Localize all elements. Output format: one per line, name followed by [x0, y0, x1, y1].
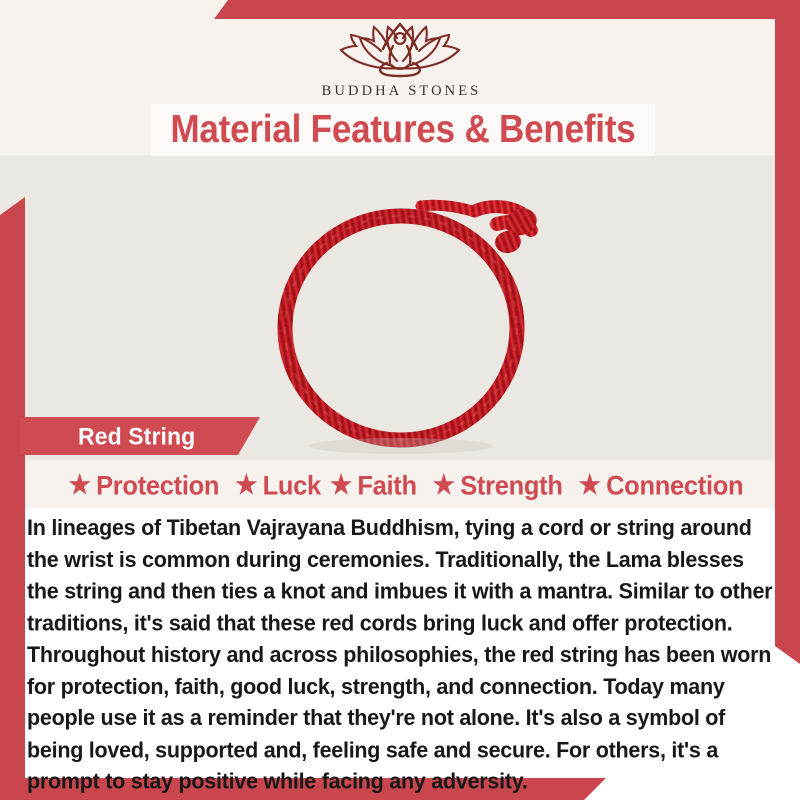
benefit-item-strength: ★ Strength: [433, 470, 563, 501]
brand-logo: BUDDHA STONES: [0, 18, 800, 100]
benefit-label: Luck: [263, 470, 321, 501]
product-label-ribbon: Red String: [20, 417, 260, 455]
benefit-label: Protection: [96, 470, 219, 501]
title-banner: Material Features & Benefits: [151, 104, 655, 156]
star-icon: ★: [69, 472, 91, 499]
product-image: [225, 160, 585, 460]
description-text: In lineages of Tibetan Vajrayana Buddhis…: [27, 512, 773, 797]
benefit-item-protection: ★ Protection: [69, 470, 220, 501]
brand-name: BUDDHA STONES: [319, 83, 482, 100]
star-icon: ★: [433, 472, 455, 499]
star-icon: ★: [579, 472, 601, 499]
benefit-item-faith: ★ Faith: [330, 470, 417, 501]
benefit-label: Connection: [606, 470, 743, 501]
product-label: Red String: [20, 422, 195, 451]
decorative-band-left: [0, 197, 25, 800]
star-icon: ★: [235, 472, 257, 499]
benefit-item-luck: ★ Luck: [235, 470, 321, 501]
page-title: Material Features & Benefits: [170, 108, 635, 152]
lotus-meditation-figure-icon: [325, 18, 475, 80]
decorative-band-top: [214, 0, 800, 19]
benefit-label: Faith: [357, 470, 416, 501]
benefit-label: Strength: [460, 470, 562, 501]
benefits-row: ★ Protection ★ Luck ★ Faith ★ Strength ★…: [26, 467, 786, 505]
infographic-poster: BUDDHA STONES Material Features & Benefi…: [0, 0, 800, 800]
benefit-item-connection: ★ Connection: [579, 470, 744, 501]
star-icon: ★: [330, 472, 352, 499]
